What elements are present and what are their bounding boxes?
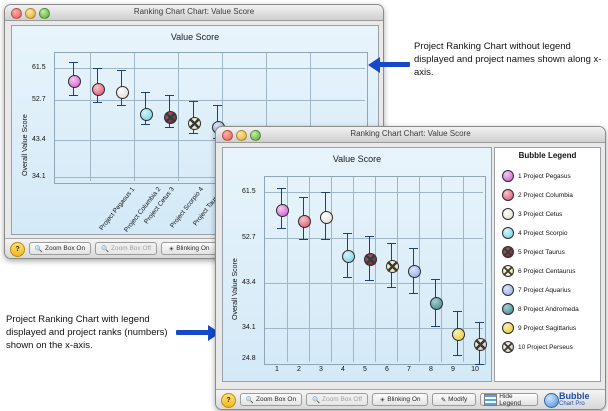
- error-cap-front-1-top: [277, 188, 286, 189]
- error-cap-front-2-bot: [299, 239, 308, 240]
- y-axis-label-front: Overall Value Score: [232, 258, 239, 320]
- x-tick-front-6: 6: [381, 366, 393, 373]
- error-cap-front-3-bot: [321, 239, 330, 240]
- x-tick-front-2: 2: [293, 366, 305, 373]
- legend-label-2: 2 Project Columbia: [518, 192, 573, 199]
- error-cap-front-6-bot: [387, 287, 396, 288]
- error-cap-back-6-top: [189, 101, 198, 102]
- legend-icon-front: [484, 394, 497, 406]
- chart-title-back: Value Score: [12, 32, 378, 42]
- data-point-front-5[interactable]: [364, 253, 377, 266]
- error-cap-front-2-top: [299, 197, 308, 198]
- brand-line1: Bubble: [559, 392, 605, 400]
- legend-label-1: 1 Project Pegasus: [518, 173, 571, 180]
- gridline-front-y1: [265, 238, 483, 239]
- legend-label-4: 4 Project Scorpio: [518, 230, 568, 237]
- blink-icon-front: ☀: [379, 396, 385, 404]
- data-point-front-2[interactable]: [298, 215, 311, 228]
- data-point-back-1[interactable]: [68, 75, 81, 88]
- x-tick-front-5: 5: [359, 366, 371, 373]
- error-cap-front-4-top: [343, 233, 352, 234]
- error-cap-back-3-bot: [117, 105, 126, 106]
- error-cap-front-1-bot: [277, 228, 286, 229]
- error-cap-back-4-top: [141, 92, 150, 93]
- y-axis-label-back: Overall Value Score: [22, 114, 29, 176]
- x-tick-front-4: 4: [337, 366, 349, 373]
- error-cap-back-3-top: [117, 70, 126, 71]
- legend-item-1[interactable]: 1 Project Pegasus: [502, 170, 571, 182]
- legend-label-5: 5 Project Taurus: [518, 249, 565, 256]
- modify-button-front[interactable]: ✎ Modify: [432, 393, 476, 406]
- gridline-front-x8: [441, 177, 442, 362]
- data-point-front-9[interactable]: [452, 328, 465, 341]
- chart-canvas-front[interactable]: Value Score Overall Value Score 61.5 52.…: [222, 147, 492, 382]
- gridline-front-x1: [287, 177, 288, 362]
- magnifier-off-icon-front: 🔍: [312, 396, 320, 404]
- error-cap-back-7-top: [213, 105, 222, 106]
- legend-label-7: 7 Project Aquarius: [518, 287, 571, 294]
- legend-item-7[interactable]: 7 Project Aquarius: [502, 284, 571, 296]
- x-tick-front-3: 3: [315, 366, 327, 373]
- error-cap-front-8-top: [431, 279, 440, 280]
- help-button-front[interactable]: ?: [221, 393, 236, 408]
- bubble-logo-icon: [544, 393, 559, 408]
- callout-text-bottom: Project Ranking Chart with legend displa…: [6, 313, 171, 352]
- legend-swatch-icon-8: [502, 303, 514, 315]
- titlebar-front[interactable]: Ranking Chart Chart: Value Score: [216, 127, 605, 143]
- data-point-front-10[interactable]: [474, 338, 487, 351]
- gridline-back-x3: [178, 53, 179, 181]
- bubble-legend-panel[interactable]: Bubble Legend 1 Project Pegasus 2 Projec…: [494, 147, 601, 382]
- zoom-box-on-button-back[interactable]: 🔍 Zoom Box On: [29, 242, 91, 255]
- chart-title-front: Value Score: [223, 154, 491, 164]
- gridline-front-x5: [375, 177, 376, 362]
- error-cap-front-9-top: [453, 311, 462, 312]
- magnifier-icon-front: 🔍: [246, 396, 254, 404]
- legend-swatch-icon-3: [502, 208, 514, 220]
- legend-item-8[interactable]: 8 Project Andromeda: [502, 303, 579, 315]
- data-point-back-5[interactable]: [164, 111, 177, 124]
- x-tick-front-8: 8: [425, 366, 437, 373]
- legend-item-5[interactable]: 5 Project Taurus: [502, 246, 565, 258]
- data-point-back-2[interactable]: [92, 83, 105, 96]
- data-point-front-6[interactable]: [386, 260, 399, 273]
- magnifier-off-icon-back: 🔍: [101, 245, 109, 253]
- y-tick-back-2: 43.4: [32, 136, 46, 143]
- legend-swatch-icon-7: [502, 284, 514, 296]
- zoom-box-off-button-front[interactable]: 🔍 Zoom Box Off: [306, 393, 368, 406]
- gridline-front-y3: [265, 328, 483, 329]
- data-point-back-3[interactable]: [116, 86, 129, 99]
- legend-item-6[interactable]: 6 Project Centaurus: [502, 265, 575, 277]
- legend-swatch-icon-6: [502, 265, 514, 277]
- legend-label-10: 10 Project Perseus: [518, 344, 573, 351]
- error-cap-front-8-bot: [431, 326, 440, 327]
- window-title-back: Ranking Chart Chart: Value Score: [5, 7, 383, 16]
- error-cap-front-7-top: [409, 248, 418, 249]
- legend-item-9[interactable]: 9 Project Sagittarius: [502, 322, 576, 334]
- legend-swatch-icon-2: [502, 189, 514, 201]
- gridline-front-x2: [309, 177, 310, 362]
- titlebar-back[interactable]: Ranking Chart Chart: Value Score: [5, 5, 383, 21]
- data-point-front-8[interactable]: [430, 297, 443, 310]
- zoom-box-off-button-back[interactable]: 🔍 Zoom Box Off: [95, 242, 157, 255]
- blinking-on-button-front[interactable]: ☀ Blinking On: [372, 393, 428, 406]
- legend-swatch-icon-1: [502, 170, 514, 182]
- y-tick-back-0: 61.5: [32, 64, 46, 71]
- callout-text-top: Project Ranking Chart without legend dis…: [414, 40, 604, 79]
- legend-label-8: 8 Project Andromeda: [518, 306, 579, 313]
- legend-swatch-icon-9: [502, 322, 514, 334]
- pencil-icon-front: ✎: [441, 396, 446, 404]
- window-ranking-chart-with-legend[interactable]: Ranking Chart Chart: Value Score Value S…: [215, 126, 606, 410]
- gridline-back-x2: [134, 53, 135, 181]
- y-tick-back-1: 52.7: [32, 96, 46, 103]
- legend-label-9: 9 Project Sagittarius: [518, 325, 576, 332]
- legend-item-10[interactable]: 10 Project Perseus: [502, 341, 573, 353]
- error-cap-front-3-top: [321, 192, 330, 193]
- y-tick-front-1: 52.7: [242, 234, 256, 241]
- error-cap-back-2-bot: [93, 102, 102, 103]
- data-point-front-7[interactable]: [408, 265, 421, 278]
- gridline-front-y2: [265, 283, 483, 284]
- legend-label-3: 3 Project Cetus: [518, 211, 562, 218]
- error-cap-front-10-top: [475, 322, 484, 323]
- error-cap-back-5-top: [165, 95, 174, 96]
- error-cap-front-5-top: [365, 236, 374, 237]
- y-tick-front-2: 43.4: [242, 279, 256, 286]
- legend-swatch-icon-4: [502, 227, 514, 239]
- brand-logo: Bubble Chart Pro OPTIMAL: [559, 392, 605, 410]
- data-point-front-4[interactable]: [342, 250, 355, 263]
- gridline-front-x4: [353, 177, 354, 362]
- x-tick-front-1: 1: [271, 366, 283, 373]
- data-point-front-1[interactable]: [276, 204, 289, 217]
- error-cap-back-6-bot: [189, 133, 198, 134]
- hide-legend-button-front[interactable]: Hide Legend: [480, 393, 538, 406]
- x-tick-front-9: 9: [447, 366, 459, 373]
- error-cap-back-4-bot: [141, 124, 150, 125]
- x-tick-front-10: 10: [469, 366, 481, 373]
- blink-icon-back: ☀: [168, 245, 174, 253]
- x-tick-front-7: 7: [403, 366, 415, 373]
- gridline-back-x1: [90, 53, 91, 181]
- data-point-back-4[interactable]: [140, 108, 153, 121]
- gridline-front-x3: [331, 177, 332, 362]
- error-cap-front-9-bot: [453, 355, 462, 356]
- y-tick-front-0: 61.5: [242, 188, 256, 195]
- error-cap-back-5-bot: [165, 127, 174, 128]
- error-cap-back-1-top: [69, 62, 78, 63]
- gridline-back-y1: [55, 100, 365, 101]
- legend-label-6: 6 Project Centaurus: [518, 268, 575, 275]
- blinking-on-button-back[interactable]: ☀ Blinking On: [161, 242, 217, 255]
- legend-item-4[interactable]: 4 Project Scorpio: [502, 227, 568, 239]
- zoom-box-on-button-front[interactable]: 🔍 Zoom Box On: [240, 393, 302, 406]
- help-button-back[interactable]: ?: [10, 242, 25, 257]
- legend-swatch-icon-10: [502, 341, 514, 353]
- gridline-front-y0: [265, 192, 483, 193]
- error-cap-front-10-bot: [475, 364, 484, 365]
- y-tick-back-3: 34.1: [32, 173, 46, 180]
- y-tick-front-4: 24.8: [242, 355, 256, 362]
- error-cap-front-6-top: [387, 243, 396, 244]
- error-cap-front-5-bot: [365, 280, 374, 281]
- error-cap-back-2-top: [93, 68, 102, 69]
- data-point-front-3[interactable]: [320, 211, 333, 224]
- error-cap-back-1-bot: [69, 95, 78, 96]
- error-cap-front-4-bot: [343, 277, 352, 278]
- window-title-front: Ranking Chart Chart: Value Score: [216, 129, 605, 138]
- error-cap-front-7-bot: [409, 293, 418, 294]
- y-tick-front-3: 34.1: [242, 324, 256, 331]
- brand-line2: Chart Pro OPTIMAL: [559, 400, 605, 410]
- legend-swatch-icon-5: [502, 246, 514, 258]
- magnifier-icon-back: 🔍: [35, 245, 43, 253]
- legend-title: Bubble Legend: [495, 151, 600, 160]
- toolbar-front[interactable]: ? 🔍 Zoom Box On 🔍 Zoom Box Off ☀ Blinkin…: [216, 389, 605, 409]
- legend-item-2[interactable]: 2 Project Columbia: [502, 189, 573, 201]
- data-point-back-6[interactable]: [188, 117, 201, 130]
- legend-item-3[interactable]: 3 Project Cetus: [502, 208, 562, 220]
